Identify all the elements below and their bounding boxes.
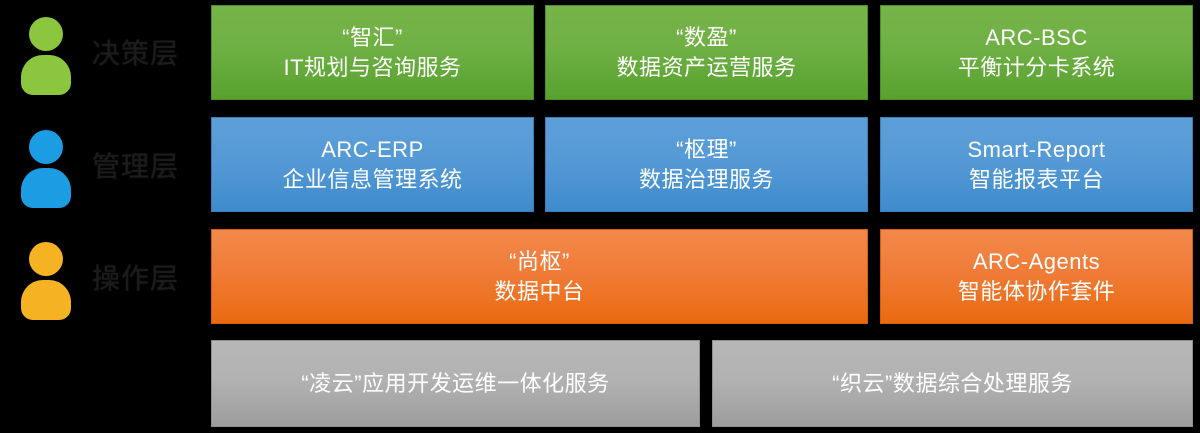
card-arc-agents[interactable]: ARC-Agents 智能体协作套件 bbox=[880, 229, 1193, 324]
card-lingyun[interactable]: “凌云”应用开发运维一体化服务 bbox=[211, 340, 700, 427]
card-subtitle: 平衡计分卡系统 bbox=[958, 53, 1116, 82]
card-shuying[interactable]: “数盈” 数据资产运营服务 bbox=[545, 5, 868, 100]
layer-label-management: 管理层 bbox=[92, 145, 179, 185]
card-subtitle: 数据治理服务 bbox=[639, 165, 774, 194]
card-subtitle: 数据资产运营服务 bbox=[616, 53, 796, 82]
card-title: “织云”数据综合处理服务 bbox=[832, 369, 1073, 398]
card-zhiyun[interactable]: “织云”数据综合处理服务 bbox=[712, 340, 1193, 427]
card-title: “智汇” bbox=[342, 23, 403, 52]
card-subtitle: 智能体协作套件 bbox=[958, 277, 1116, 306]
layer-row-decision: 决策层 bbox=[0, 4, 210, 100]
card-shuli[interactable]: “枢理” 数据治理服务 bbox=[545, 117, 868, 212]
layer-row-management: 管理层 bbox=[0, 117, 210, 213]
card-title: “数盈” bbox=[676, 23, 737, 52]
layer-row-operation: 操作层 bbox=[0, 229, 210, 325]
card-smart-report[interactable]: Smart-Report 智能报表平台 bbox=[880, 117, 1193, 212]
person-icon-decision bbox=[14, 13, 78, 91]
card-zhihui[interactable]: “智汇” IT规划与咨询服务 bbox=[211, 5, 534, 100]
card-title: Smart-Report bbox=[967, 135, 1105, 164]
layer-label-operation: 操作层 bbox=[92, 257, 179, 297]
card-subtitle: 数据中台 bbox=[494, 277, 584, 306]
card-title: “尚枢” bbox=[509, 247, 570, 276]
card-subtitle: 企业信息管理系统 bbox=[282, 165, 462, 194]
card-title: ARC-ERP bbox=[321, 135, 424, 164]
card-arc-bsc[interactable]: ARC-BSC 平衡计分卡系统 bbox=[880, 5, 1193, 100]
architecture-diagram: 决策层 管理层 操作层 “智汇” IT规划与咨询服务 “数盈” 数据资产运营服务… bbox=[0, 0, 1200, 433]
person-icon-management bbox=[14, 126, 78, 204]
card-title: ARC-BSC bbox=[985, 23, 1088, 52]
layer-label-decision: 决策层 bbox=[92, 32, 179, 72]
card-arc-erp[interactable]: ARC-ERP 企业信息管理系统 bbox=[211, 117, 534, 212]
person-icon-operation bbox=[14, 238, 78, 316]
card-subtitle: IT规划与咨询服务 bbox=[283, 53, 461, 82]
card-title: ARC-Agents bbox=[973, 247, 1100, 276]
card-title: “枢理” bbox=[676, 135, 737, 164]
card-title: “凌云”应用开发运维一体化服务 bbox=[301, 369, 609, 398]
card-subtitle: 智能报表平台 bbox=[969, 165, 1104, 194]
card-shangshu[interactable]: “尚枢” 数据中台 bbox=[211, 229, 868, 324]
